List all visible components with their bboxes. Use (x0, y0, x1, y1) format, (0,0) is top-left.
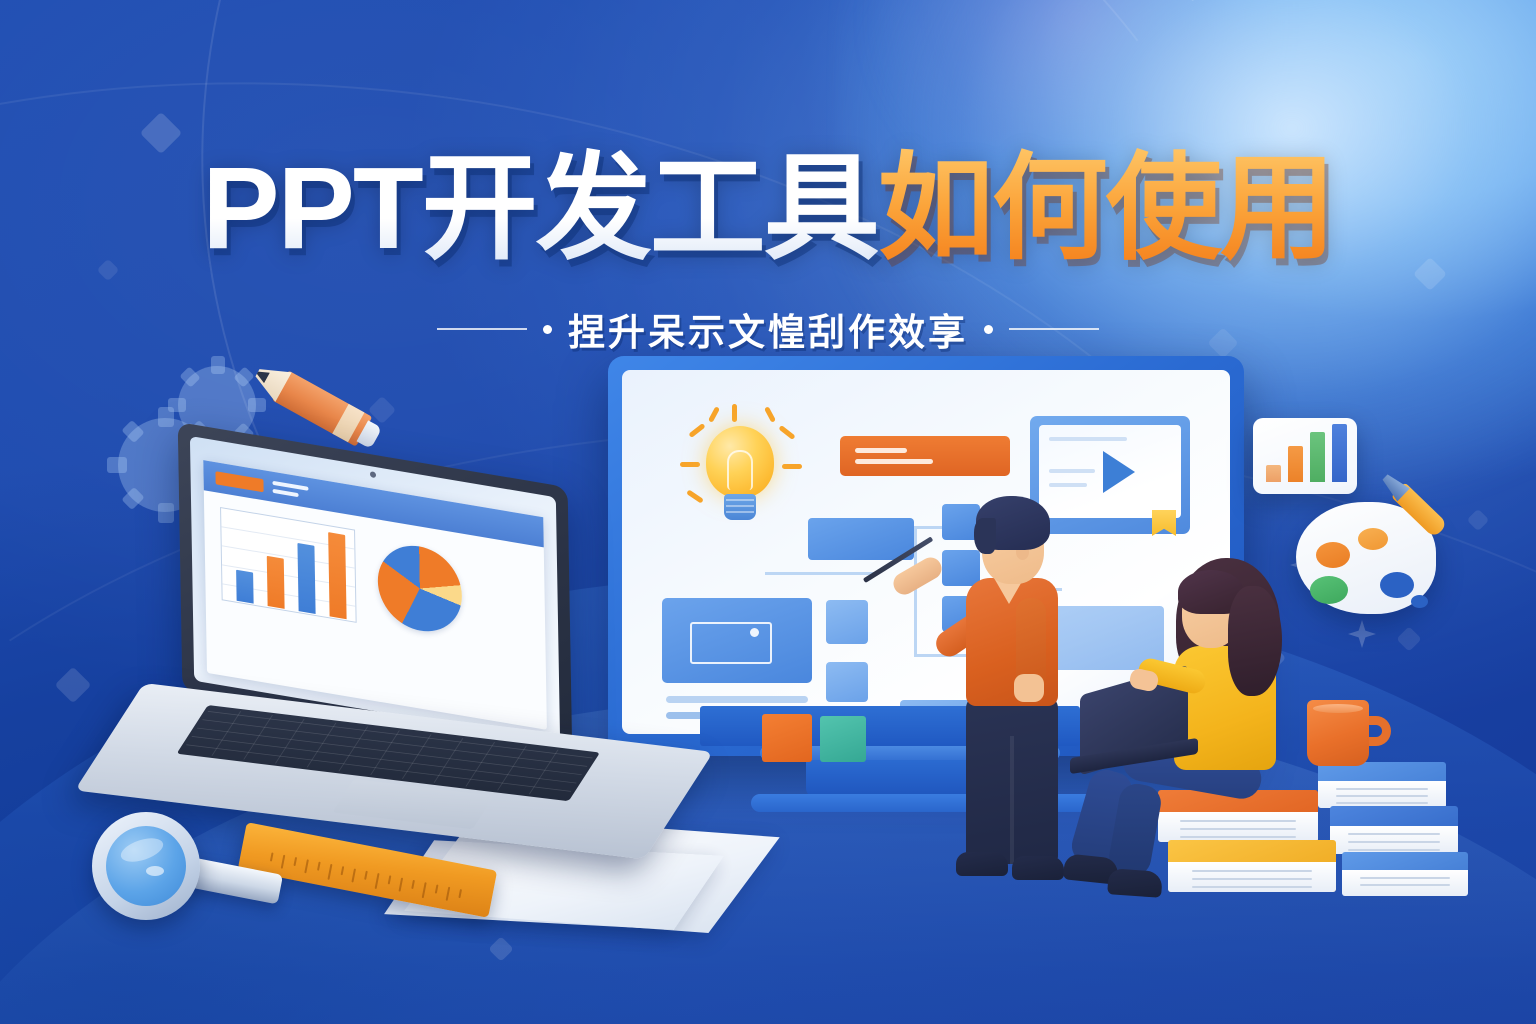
woman-laptop[interactable] (1070, 680, 1200, 772)
title-primary: PPT开发工具 (202, 148, 878, 270)
title-accent: 如何使用 (878, 148, 1334, 270)
bar (236, 570, 254, 604)
woman-shoe (1107, 868, 1163, 898)
webcam-icon (370, 471, 376, 478)
slide-header-lines (272, 481, 308, 499)
flow-connector (765, 572, 875, 575)
bar (297, 543, 315, 614)
paint-blob (1358, 528, 1388, 550)
poster-canvas: PPT开发工具如何使用 捏升呆示文惶刮作效享 (0, 0, 1536, 1024)
man-shoe (956, 852, 1008, 876)
bar-chart (220, 507, 357, 623)
poster-title: PPT开发工具如何使用 (0, 148, 1536, 270)
play-icon[interactable] (1103, 451, 1135, 493)
bar (1266, 465, 1281, 482)
bookmark-icon (1152, 510, 1176, 536)
bar (267, 556, 285, 609)
bar (1288, 446, 1303, 482)
man-hand-right (1014, 674, 1044, 702)
subtitle-dot-right (984, 325, 993, 334)
flow-box (826, 600, 868, 644)
subtitle-rule-right (1009, 328, 1099, 330)
pie-chart (377, 539, 462, 637)
bar (1310, 432, 1325, 482)
bar (1332, 424, 1347, 482)
man-legs (966, 696, 1058, 864)
teal-cube (820, 716, 866, 762)
magnifying-glass-icon (92, 812, 262, 922)
subtitle-text: 捏升呆示文惶刮作效享 (568, 302, 968, 356)
paint-blob (1316, 542, 1350, 568)
blue-book (1342, 852, 1468, 896)
subtitle-dot-left (543, 325, 552, 334)
paint-blob (1310, 576, 1348, 604)
bar-chart-card (1253, 418, 1357, 494)
palette-hole (1411, 595, 1428, 608)
palette-thumb-hole (1380, 572, 1414, 598)
flow-box (808, 518, 914, 560)
slide-header-chip (215, 471, 263, 492)
slide-title-bar (840, 436, 1010, 476)
woman-hair-side (1228, 586, 1282, 696)
bar (328, 532, 346, 619)
subtitle-rule-left (437, 328, 527, 330)
laptop-base (144, 683, 754, 833)
artist-palette-icon (1296, 502, 1436, 614)
man-shoe (1012, 856, 1064, 880)
man-hair-fringe (974, 518, 996, 554)
poster-subtitle-row: 捏升呆示文惶刮作效享 (0, 302, 1536, 356)
flow-box (826, 662, 868, 702)
